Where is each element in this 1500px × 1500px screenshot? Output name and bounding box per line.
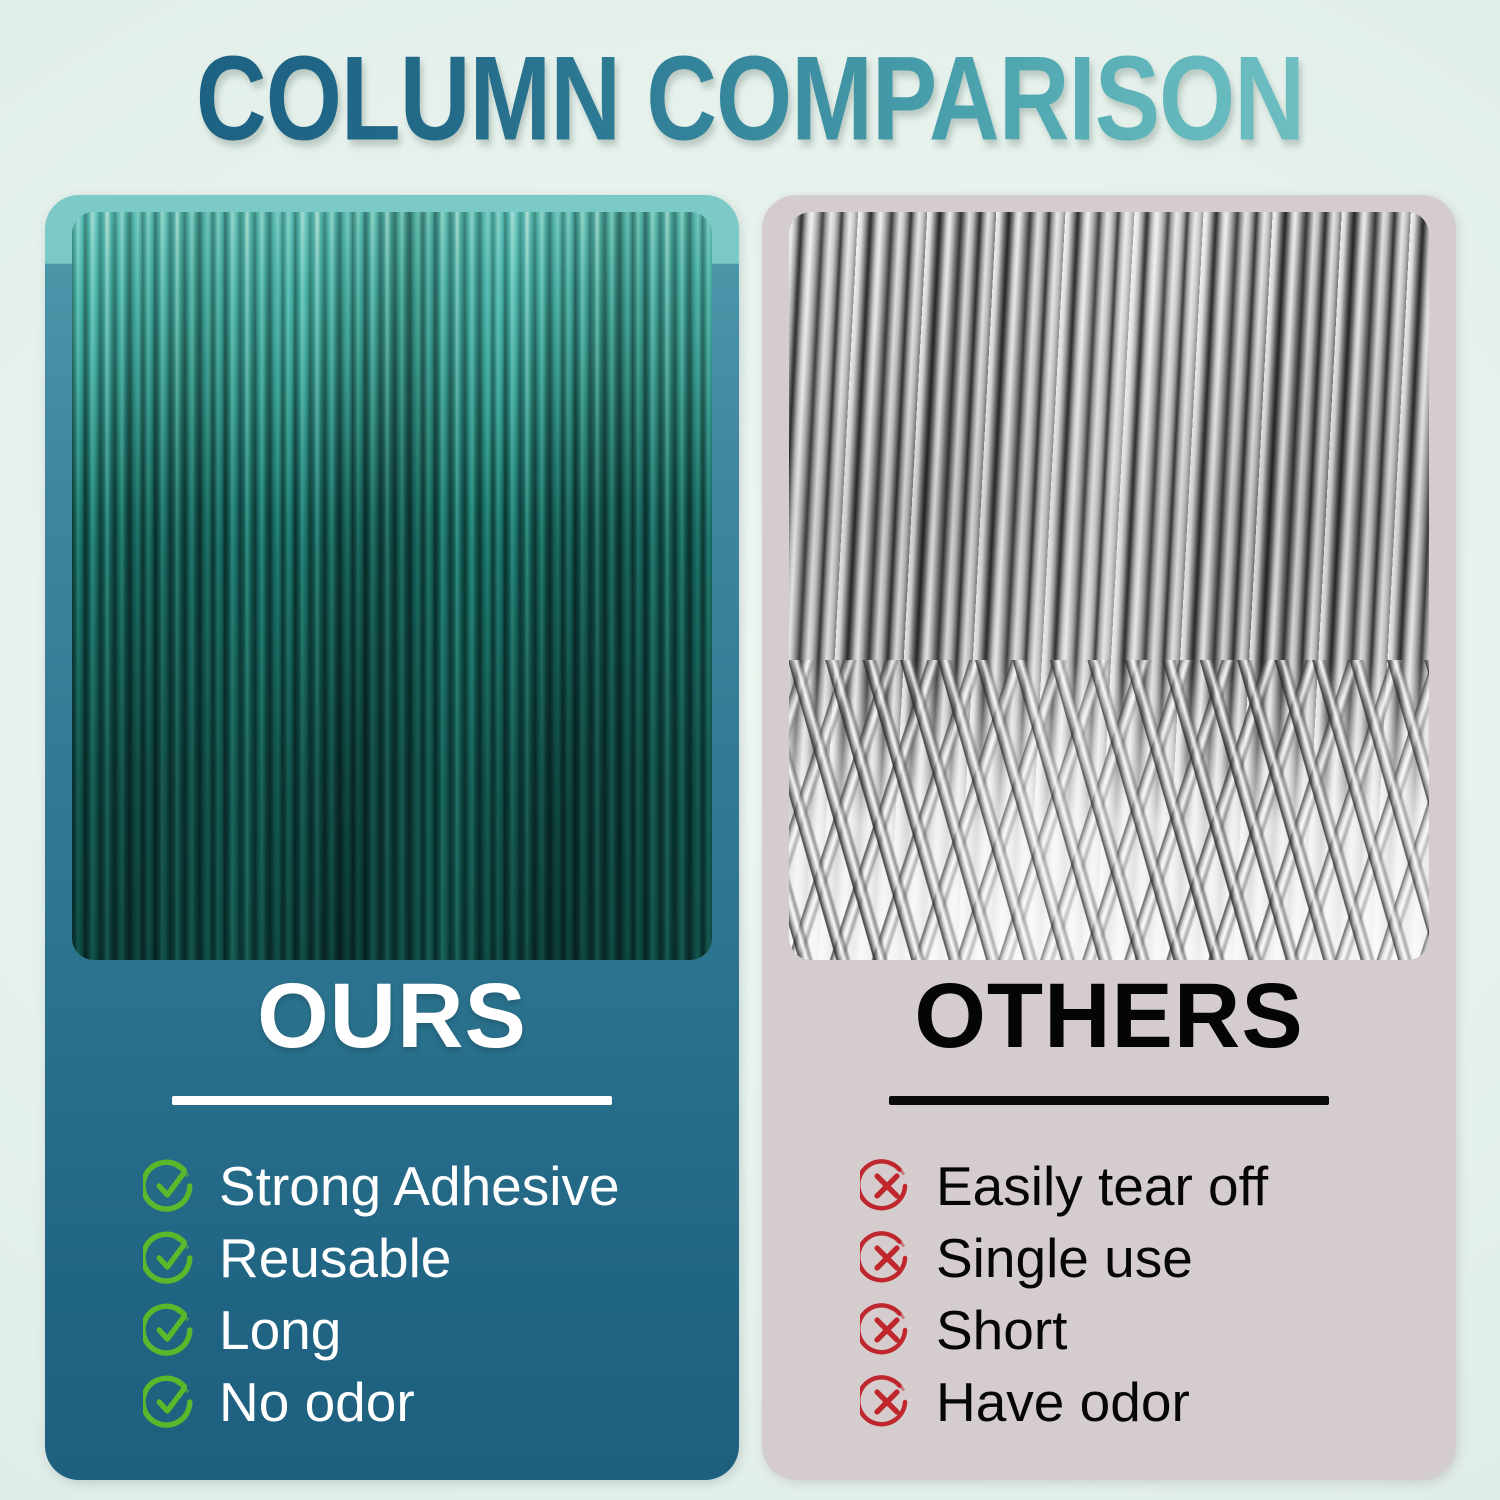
list-item-label: Have odor [936,1375,1190,1430]
ours-heading: OURS [45,970,739,1062]
others-feature-list: Easily tear off Single use [762,1150,1456,1438]
cross-circle-icon [860,1231,914,1285]
cross-circle-icon [860,1375,914,1429]
cross-circle-icon [860,1303,914,1357]
ours-product-image [72,212,712,960]
ours-heading-block: OURS [45,970,739,1105]
list-item-label: Long [219,1303,341,1358]
list-item: Easily tear off [860,1150,1456,1222]
check-circle-icon [143,1231,197,1285]
list-item: Short [860,1294,1456,1366]
list-item-label: No odor [219,1375,415,1430]
list-item: Single use [860,1222,1456,1294]
list-item: Have odor [860,1366,1456,1438]
list-item: Strong Adhesive [143,1150,739,1222]
list-item-label: Easily tear off [936,1159,1268,1214]
ours-panel: OURS Strong Adhesive [45,195,739,1480]
check-circle-icon [143,1159,197,1213]
check-circle-icon [143,1303,197,1357]
others-heading-rule [889,1096,1329,1105]
list-item-label: Single use [936,1231,1193,1286]
list-item-label: Strong Adhesive [219,1159,620,1214]
ours-feature-list: Strong Adhesive Reusable [45,1150,739,1438]
ours-heading-rule [172,1096,612,1105]
page-title-container: COLUMN COMPARISON [0,44,1500,152]
others-heading: OTHERS [762,970,1456,1062]
infographic-page: COLUMN COMPARISON OURS Strong Adhesive [0,0,1500,1500]
list-item: Reusable [143,1222,739,1294]
others-image-sheen [789,212,1429,960]
check-circle-icon [143,1375,197,1429]
list-item-label: Reusable [219,1231,451,1286]
page-title: COLUMN COMPARISON [196,38,1304,158]
others-product-image [789,212,1429,960]
cross-circle-icon [860,1159,914,1213]
list-item: No odor [143,1366,739,1438]
others-panel: OTHERS Easily tear off [762,195,1456,1480]
ours-image-sheen [72,212,712,960]
list-item: Long [143,1294,739,1366]
others-heading-block: OTHERS [762,970,1456,1105]
list-item-label: Short [936,1303,1067,1358]
